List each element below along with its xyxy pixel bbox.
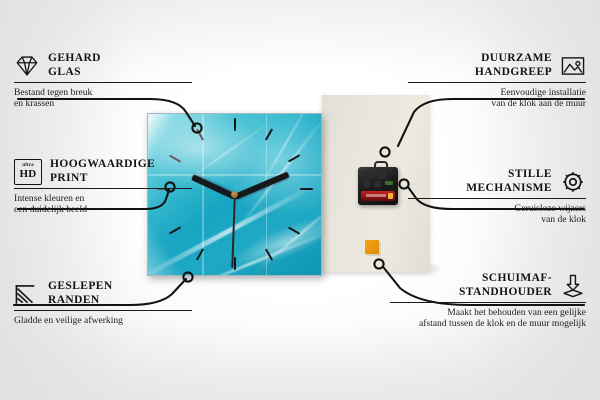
feature-title-line1: GEHARD	[48, 52, 101, 66]
feature-title-line2: HANDGREEP	[475, 66, 552, 80]
feature-title-line1: GESLEPEN	[48, 280, 113, 294]
clock-mechanism	[358, 167, 398, 205]
feature-divider	[408, 82, 586, 83]
ultra-hd-icon-main-label: HD	[19, 169, 36, 180]
diamond-icon	[14, 53, 40, 79]
feature-title-line2: STANDHOUDER	[459, 286, 552, 300]
feature-description: Maakt het behouden van een gelijke afsta…	[390, 307, 586, 330]
feature-description: Gladde en veilige afwerking	[14, 315, 192, 327]
foam-spacer	[365, 240, 379, 254]
diagonal-lines-icon	[14, 281, 40, 307]
feature-heading: GESLEPEN RANDEN	[14, 280, 192, 307]
feature-hoogwaardige-print: ultra HD HOOGWAARDIGE PRINT Intense kleu…	[14, 158, 192, 216]
feature-description: Geruisloze wijzers van de klok	[408, 203, 586, 226]
clock-center-cap	[231, 191, 238, 198]
feature-title-line2: MECHANISME	[466, 182, 552, 196]
feature-title-line2: GLAS	[48, 66, 101, 80]
feature-heading: ultra HD HOOGWAARDIGE PRINT	[14, 158, 192, 185]
feature-description: Intense kleuren en een duidelijk beeld	[14, 193, 192, 216]
feature-gehard-glas: GEHARD GLAS Bestand tegen breuk en krass…	[14, 52, 192, 110]
feature-title-line2: RANDEN	[48, 294, 113, 308]
ultra-hd-icon: ultra HD	[14, 159, 42, 185]
feature-title-line1: DUURZAME	[475, 52, 552, 66]
feature-title-line1: STILLE	[466, 168, 552, 182]
feature-heading: DUURZAME HANDGREEP	[408, 52, 586, 79]
feature-stille-mechanisme: STILLE MECHANISME Geruisloze wijzers van…	[408, 168, 586, 226]
press-down-icon	[560, 273, 586, 299]
feature-title: GEHARD GLAS	[48, 52, 101, 79]
feature-divider	[14, 188, 192, 189]
feature-title-line1: HOOGWAARDIGE	[50, 158, 155, 172]
feature-geslepen-randen: GESLEPEN RANDEN Gladde en veilige afwerk…	[14, 280, 192, 326]
feature-title: SCHUIMAF- STANDHOUDER	[459, 272, 552, 299]
feature-heading: STILLE MECHANISME	[408, 168, 586, 195]
feature-title-line1: SCHUIMAF-	[459, 272, 552, 286]
feature-schuimafstandhouder: SCHUIMAF- STANDHOUDER Maakt het behouden…	[390, 272, 586, 330]
picture-frame-icon	[560, 53, 586, 79]
feature-title: STILLE MECHANISME	[466, 168, 552, 195]
aa-battery	[361, 191, 395, 201]
feature-title: DUURZAME HANDGREEP	[475, 52, 552, 79]
feature-divider	[14, 82, 192, 83]
feature-divider	[14, 310, 192, 311]
feature-description: Bestand tegen breuk en krassen	[14, 87, 192, 110]
battery-plus-terminal	[388, 193, 393, 199]
feature-duurzame-handgreep: DUURZAME HANDGREEP Eenvoudige installati…	[408, 52, 586, 110]
gear-icon	[560, 169, 586, 195]
feature-divider	[390, 302, 586, 303]
battery-label-stripe	[366, 194, 386, 197]
product-infographic: GEHARD GLAS Bestand tegen breuk en krass…	[0, 0, 600, 400]
feature-title-line2: PRINT	[50, 172, 155, 186]
feature-title: HOOGWAARDIGE PRINT	[50, 158, 155, 185]
feature-heading: GEHARD GLAS	[14, 52, 192, 79]
feature-description: Eenvoudige installatie van de klok aan d…	[408, 87, 586, 110]
feature-heading: SCHUIMAF- STANDHOUDER	[390, 272, 586, 299]
feature-divider	[408, 198, 586, 199]
feature-title: GESLEPEN RANDEN	[48, 280, 113, 307]
